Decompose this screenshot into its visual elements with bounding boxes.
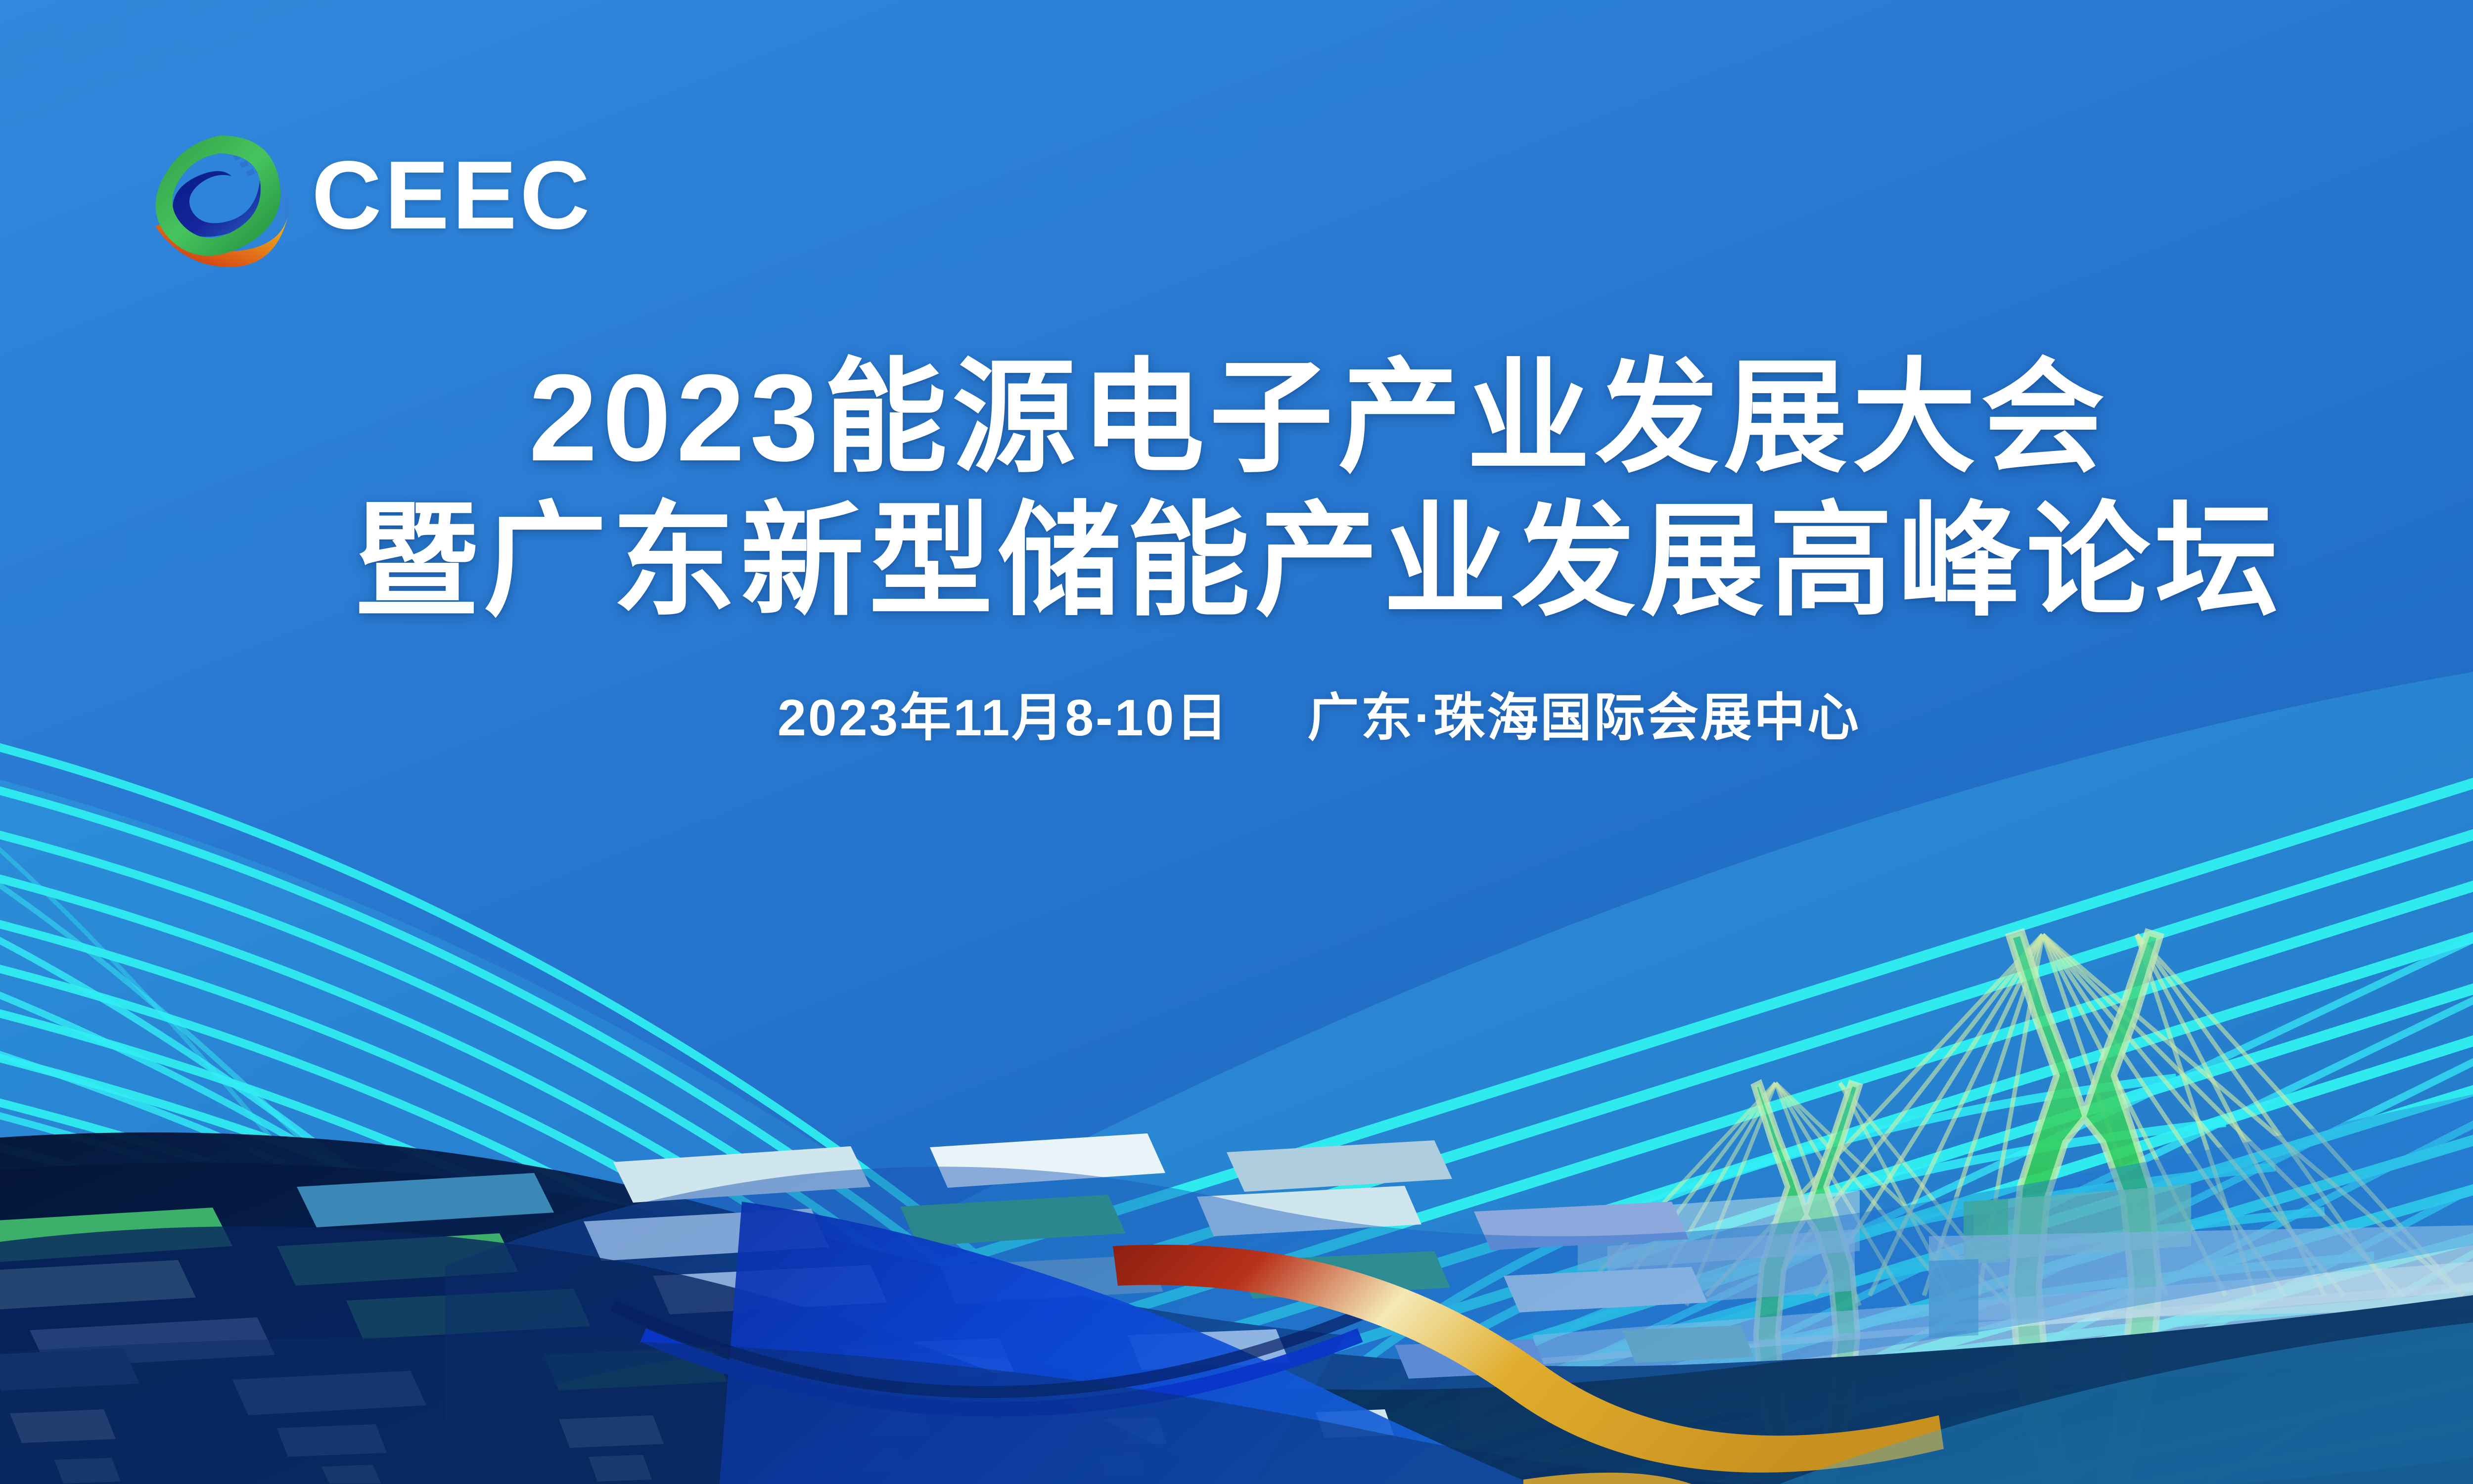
brand-logo[interactable]: CEEC (146, 125, 593, 273)
conference-banner: CEEC 2023能源电子产业发展大会 暨广东新型储能产业发展高峰论坛 2023… (0, 0, 2473, 1484)
brand-wordmark: CEEC (312, 147, 593, 251)
ceec-swirl-logo-icon (146, 125, 295, 273)
